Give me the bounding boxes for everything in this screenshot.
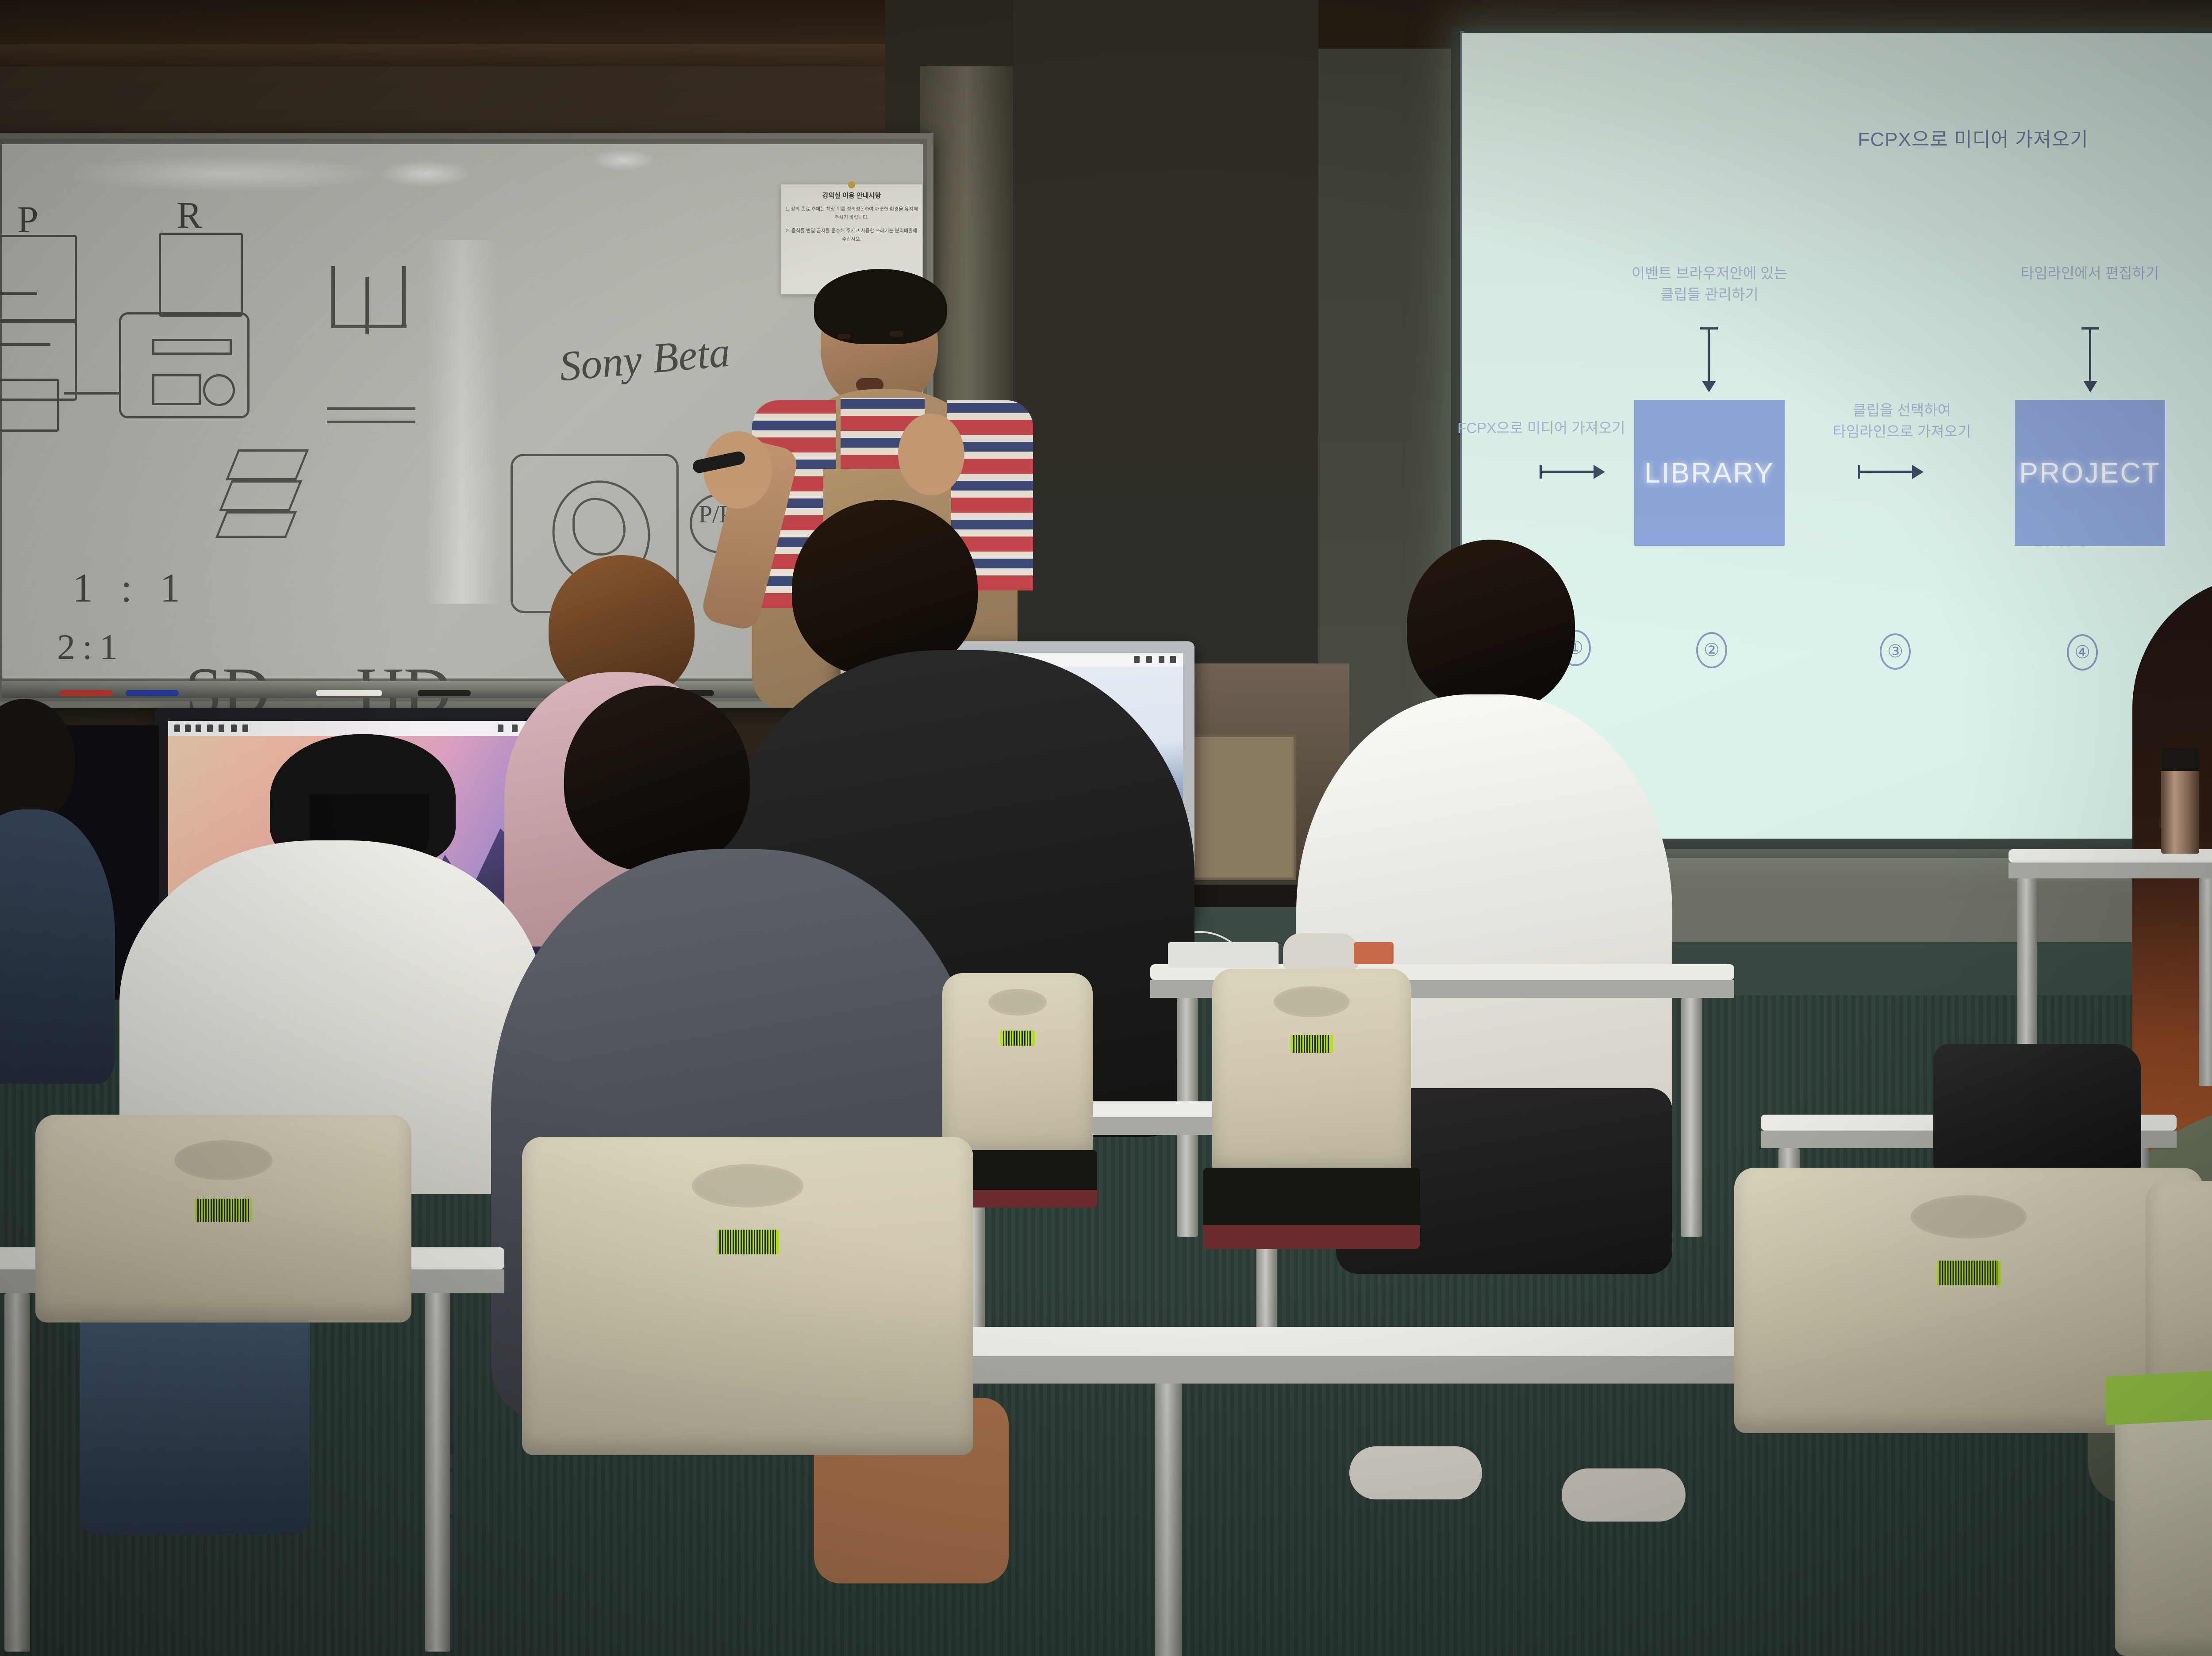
slide-flow-caption-2-line-2: 타임라인으로 가져오기 bbox=[1798, 421, 2006, 442]
whiteboard-sheen bbox=[426, 240, 499, 603]
notebook-orange bbox=[1354, 942, 1394, 964]
marker-black[interactable] bbox=[418, 690, 471, 696]
whiteboard-drawing-funnel-base bbox=[331, 325, 407, 328]
mouse-device[interactable] bbox=[1283, 933, 1358, 969]
student-facing-screen-head bbox=[1407, 540, 1575, 712]
instructor-hair bbox=[814, 269, 947, 344]
slide-arrow-down-1 bbox=[1708, 329, 1710, 391]
whiteboard-drawing-funnel-right bbox=[402, 266, 406, 328]
whiteboard-drawing-tape-2 bbox=[219, 480, 302, 511]
whiteboard-drawing-slot-1 bbox=[0, 343, 50, 346]
chair-handle-hole bbox=[1911, 1195, 2027, 1238]
whiteboard-glare-3 bbox=[591, 149, 656, 171]
chair-asset-sticker bbox=[1937, 1261, 2001, 1285]
slide-arrow-right-1 bbox=[1541, 471, 1594, 473]
whiteboard-glare-2 bbox=[380, 160, 472, 187]
slide-step-number-4: ④ bbox=[2067, 634, 2098, 671]
chair-handle-hole bbox=[692, 1164, 803, 1207]
slide-top-caption-2-line-1: 타임라인에서 편집하기 bbox=[1966, 263, 2212, 284]
paper-stack bbox=[1168, 942, 1279, 968]
travel-tumbler[interactable] bbox=[2161, 747, 2199, 854]
slide-flow-caption-2-line-1: 클립을 선택하여 bbox=[1798, 400, 2006, 421]
chair-asset-sticker bbox=[1290, 1035, 1333, 1053]
whiteboard-drawing-tape-line-2 bbox=[327, 421, 415, 423]
whiteboard-drawing-slot-3 bbox=[152, 339, 232, 355]
whiteboard-drawing-device-1 bbox=[0, 235, 77, 323]
instructor-eye-right bbox=[889, 331, 903, 337]
chair-handle-hole bbox=[174, 1140, 273, 1180]
whiteboard-drawing-tape-3 bbox=[215, 511, 297, 538]
whiteboard-glare-1 bbox=[66, 155, 380, 192]
tumbler-lid bbox=[2161, 747, 2199, 771]
slide-step-number-3: ③ bbox=[1880, 633, 1911, 670]
whiteboard-drawing-device-4 bbox=[159, 233, 243, 317]
marker-red[interactable] bbox=[59, 690, 112, 696]
slide-flow-caption-1: FCPX으로 미디어 가져오기 bbox=[1444, 418, 1639, 439]
classroom-photo: P R Sony Beta 1 : 1 2:1 SD HD 720 X 480 bbox=[0, 0, 2212, 1656]
table-leg bbox=[1681, 998, 1702, 1237]
whiteboard-drawing-device-3 bbox=[0, 379, 59, 432]
slide-box-project-label: PROJECT bbox=[2019, 456, 2161, 489]
chair-mid-left[interactable] bbox=[942, 973, 1093, 1159]
imac-menu-bar[interactable] bbox=[168, 721, 553, 736]
table-right-rear-edge bbox=[2008, 862, 2212, 878]
notice-line-1: 1. 강의 종료 후에는 책상 위를 정리정돈하여 깨끗한 환경을 유지해 주시… bbox=[785, 205, 918, 222]
slide-arrow-right-2 bbox=[1860, 471, 1913, 473]
chair-handle-hole bbox=[1274, 986, 1350, 1017]
slide-box-library-label: LIBRARY bbox=[1644, 456, 1774, 489]
slide-flow-caption-3-line-1: 최종 영상물로 출력하기 bbox=[2178, 418, 2212, 439]
slide-top-caption-2: 타임라인에서 편집하기 bbox=[1966, 263, 2212, 284]
whiteboard-drawing-funnel-spout bbox=[365, 277, 369, 334]
slide-top-caption-1: 이벤트 브라우저안에 있는 클립들 관리하기 bbox=[1586, 263, 1833, 305]
table-leg bbox=[4, 1293, 30, 1652]
marker-blue[interactable] bbox=[126, 690, 179, 696]
slide-top-caption-1-line-1: 이벤트 브라우저안에 있는 bbox=[1586, 263, 1833, 284]
chair-foreground-right[interactable] bbox=[2115, 1407, 2212, 1656]
pin-icon bbox=[848, 181, 855, 188]
chair-seat-rim bbox=[1203, 1225, 1420, 1249]
whiteboard-drawing-reel bbox=[203, 374, 235, 406]
notice-title: 강의실 이용 안내사항 bbox=[785, 191, 918, 200]
chair-asset-sticker bbox=[1000, 1031, 1035, 1046]
table-leg bbox=[2199, 878, 2212, 1086]
chair-center[interactable] bbox=[1212, 969, 1411, 1177]
table-leg bbox=[1155, 1384, 1182, 1656]
slide-flow-caption-3: 최종 영상물로 출력하기 bbox=[2178, 418, 2212, 439]
slide-step-number-2: ② bbox=[1696, 632, 1727, 668]
slide-title: FCPX으로 미디어 가져오기 bbox=[1462, 123, 2212, 152]
instructor-eye-left bbox=[837, 334, 851, 339]
whiteboard-drawing-slot-4 bbox=[152, 374, 201, 405]
backpack[interactable] bbox=[1933, 1044, 2141, 1177]
whiteboard-text-ratio-2-1: 2:1 bbox=[57, 626, 125, 668]
slide-box-library: LIBRARY bbox=[1634, 400, 1785, 546]
chair-asset-sticker bbox=[717, 1230, 779, 1254]
eraser[interactable] bbox=[316, 690, 382, 696]
slide-flow-caption-2: 클립을 선택하여 타임라인으로 가져오기 bbox=[1798, 400, 2006, 442]
chair-asset-sticker bbox=[195, 1199, 252, 1222]
whiteboard-text-r: R bbox=[177, 193, 202, 237]
whiteboard-drawing-tape-1 bbox=[226, 449, 309, 480]
slide-box-project: PROJECT bbox=[2015, 400, 2165, 546]
chair-seat bbox=[1203, 1168, 1420, 1234]
whiteboard-text-ratio-1-1: 1 : 1 bbox=[73, 564, 189, 611]
whiteboard-text-sony-beta: Sony Beta bbox=[557, 327, 732, 391]
chair-foreground-left[interactable] bbox=[35, 1115, 411, 1322]
student-grey-tshirt-head bbox=[564, 686, 750, 871]
instructor-hand-right bbox=[898, 414, 964, 495]
slide-arrow-down-2 bbox=[2089, 329, 2091, 391]
chair-foreground-center[interactable] bbox=[522, 1137, 973, 1455]
slide-top-caption-1-line-2: 클립들 관리하기 bbox=[1586, 284, 1833, 305]
chair-back bbox=[2115, 1407, 2212, 1656]
notice-line-2: 2. 음식물 반입 금지를 준수해 주시고 사용한 쓰레기는 분리배출해 주십시… bbox=[785, 227, 918, 243]
whiteboard-drawing-tape-line-1 bbox=[327, 407, 415, 410]
slide-flow-caption-1-line-1: FCPX으로 미디어 가져오기 bbox=[1444, 418, 1639, 439]
chair-handle-hole bbox=[988, 989, 1047, 1016]
whiteboard-drawing-funnel-left bbox=[331, 266, 335, 328]
whiteboard-drawing-slot-2 bbox=[0, 292, 37, 295]
whiteboard-drawing-connector bbox=[64, 392, 121, 395]
table-leg bbox=[425, 1293, 450, 1652]
